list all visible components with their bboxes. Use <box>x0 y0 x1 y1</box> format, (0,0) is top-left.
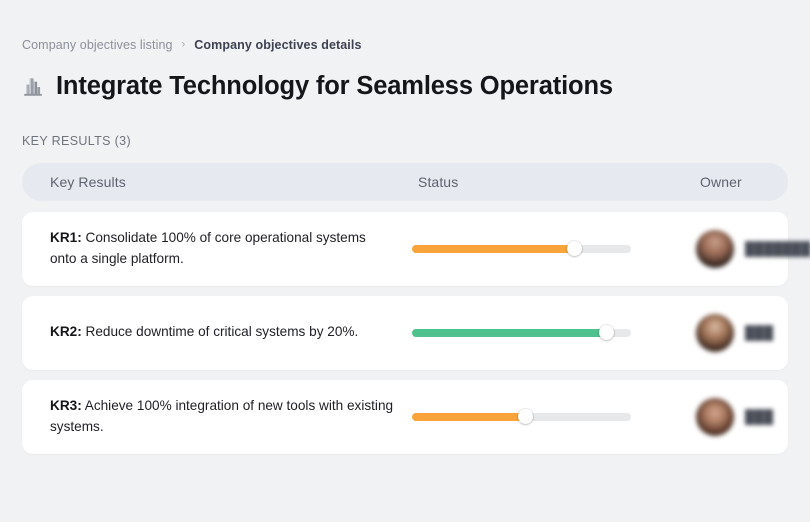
key-result-tag: KR3: <box>50 398 82 413</box>
page-title: Integrate Technology for Seamless Operat… <box>56 72 613 101</box>
progress-slider[interactable] <box>412 329 631 337</box>
key-result-text: KR1: Consolidate 100% of core operationa… <box>50 228 394 269</box>
chevron-right-icon: › <box>182 39 186 50</box>
key-result-cell: KR2: Reduce downtime of critical systems… <box>28 322 408 342</box>
column-header-status: Status <box>408 174 656 190</box>
office-building-icon <box>22 76 44 98</box>
key-result-cell: KR3: Achieve 100% integration of new too… <box>28 396 408 437</box>
owner-name: ███ <box>745 409 773 424</box>
avatar <box>696 314 734 352</box>
key-result-tag: KR2: <box>50 324 82 339</box>
owner-name: ███████ <box>745 241 810 256</box>
page-title-row: Integrate Technology for Seamless Operat… <box>22 70 788 104</box>
owner-cell: ███ <box>656 398 782 436</box>
status-cell <box>408 329 656 337</box>
breadcrumb: Company objectives listing › Company obj… <box>22 0 788 52</box>
table-header-row: Key Results Status Owner <box>22 163 788 201</box>
progress-slider[interactable] <box>412 245 631 253</box>
key-result-description: Reduce downtime of critical systems by 2… <box>82 324 359 339</box>
progress-fill <box>412 245 574 253</box>
key-result-tag: KR1: <box>50 230 82 245</box>
table-row[interactable]: KR3: Achieve 100% integration of new too… <box>22 380 788 454</box>
key-result-text: KR2: Reduce downtime of critical systems… <box>50 322 394 342</box>
owner-cell: ███████ <box>656 230 810 268</box>
table-row[interactable]: KR1: Consolidate 100% of core operationa… <box>22 212 788 286</box>
owner-cell: ███ <box>656 314 782 352</box>
status-cell <box>408 245 656 253</box>
breadcrumb-current-details: Company objectives details <box>194 39 361 52</box>
objective-details-page: Company objectives listing › Company obj… <box>0 0 810 522</box>
breadcrumb-link-listing[interactable]: Company objectives listing <box>22 39 173 52</box>
column-header-key-results: Key Results <box>28 174 408 190</box>
key-results-count-label: KEY RESULTS (3) <box>22 134 788 148</box>
owner[interactable]: ███ <box>696 398 782 436</box>
key-result-description: Consolidate 100% of core operational sys… <box>50 230 366 265</box>
owner[interactable]: ███████ <box>696 230 810 268</box>
key-result-cell: KR1: Consolidate 100% of core operationa… <box>28 228 408 269</box>
avatar <box>696 230 734 268</box>
key-results-table: Key Results Status Owner KR1: Consolidat… <box>22 163 788 454</box>
status-cell <box>408 413 656 421</box>
progress-fill <box>412 329 607 337</box>
column-header-owner: Owner <box>656 174 782 190</box>
key-result-text: KR3: Achieve 100% integration of new too… <box>50 396 394 437</box>
progress-slider[interactable] <box>412 413 631 421</box>
progress-knob[interactable] <box>599 325 614 340</box>
avatar <box>696 398 734 436</box>
progress-fill <box>412 413 526 421</box>
owner-name: ███ <box>745 325 773 340</box>
owner[interactable]: ███ <box>696 314 782 352</box>
table-row[interactable]: KR2: Reduce downtime of critical systems… <box>22 296 788 370</box>
table-body: KR1: Consolidate 100% of core operationa… <box>22 212 788 454</box>
progress-knob[interactable] <box>518 409 533 424</box>
progress-knob[interactable] <box>567 241 582 256</box>
key-result-description: Achieve 100% integration of new tools wi… <box>50 398 393 433</box>
